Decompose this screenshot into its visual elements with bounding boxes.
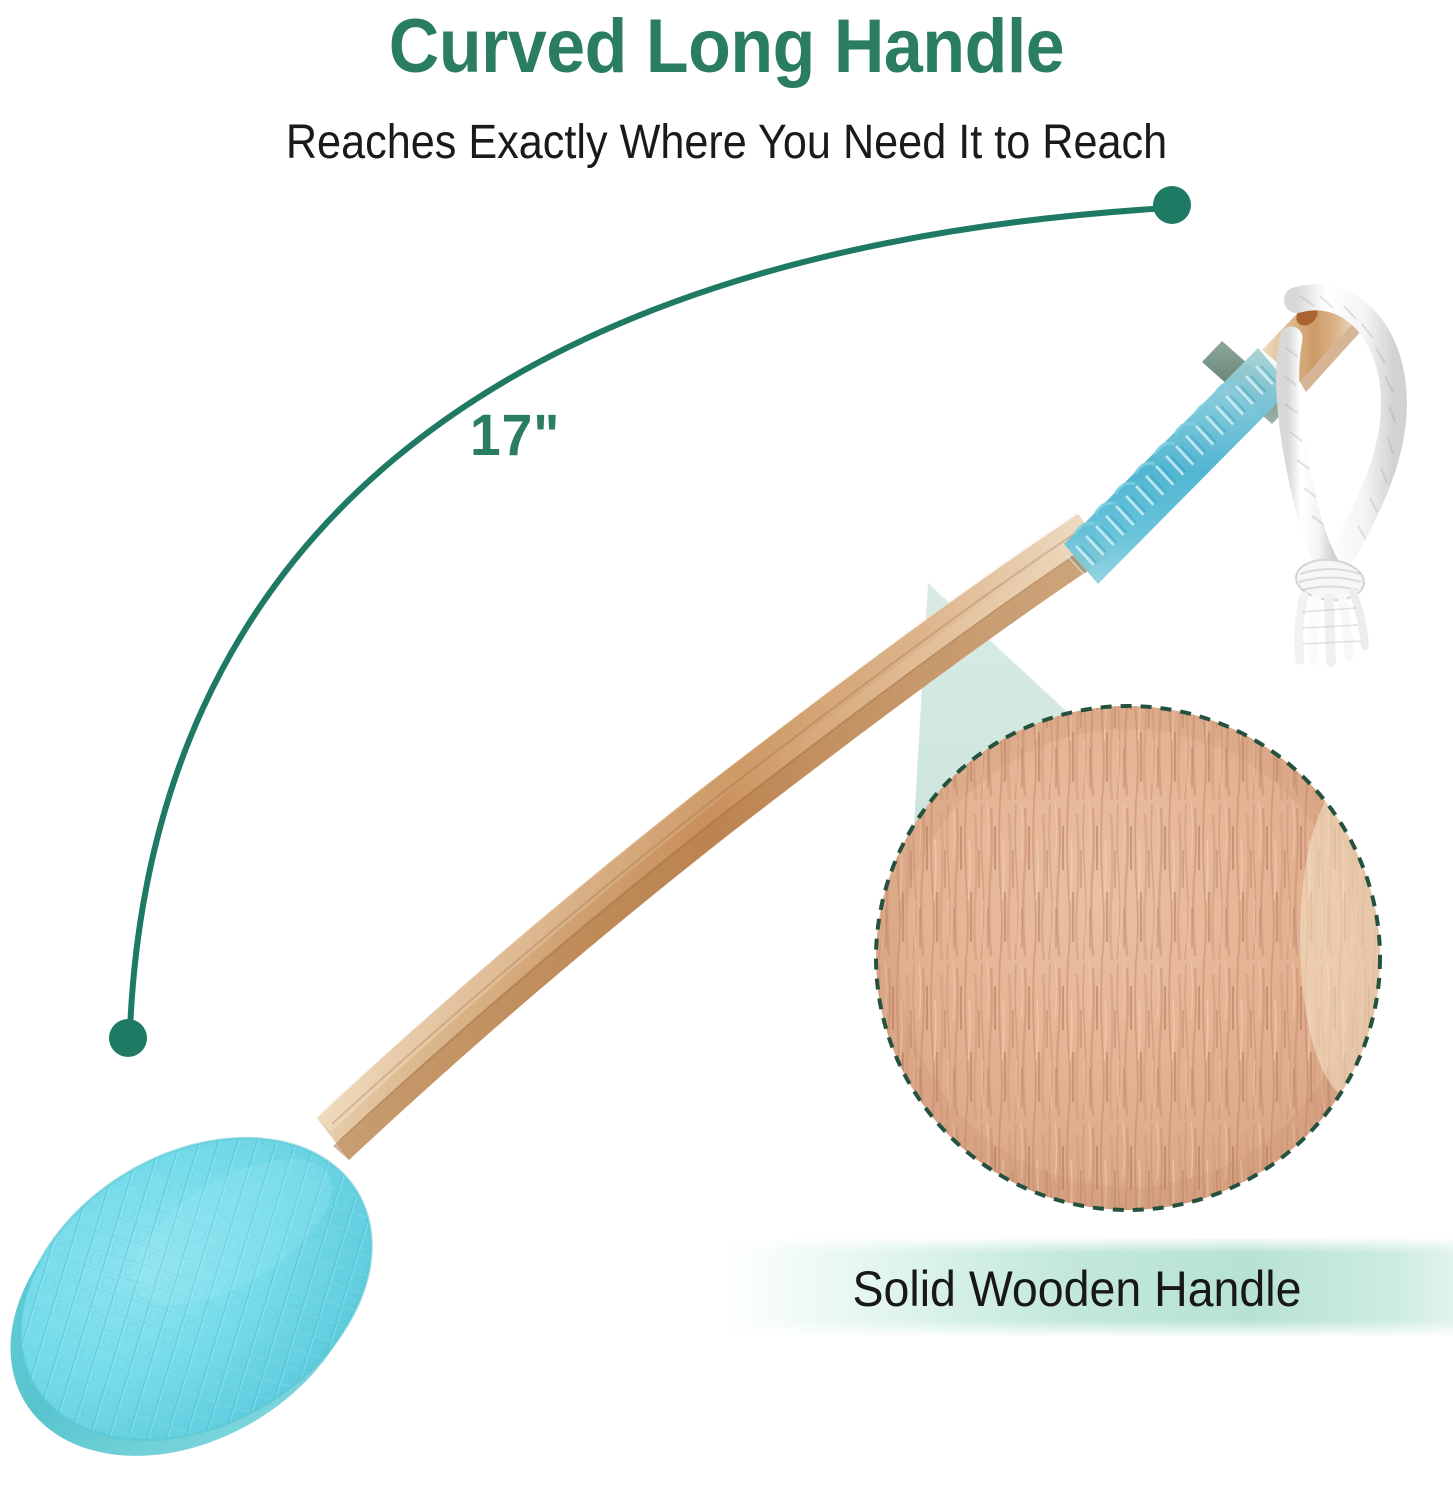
silicone-grip [1064,348,1292,584]
rope-tassel [1299,592,1365,662]
product-feature-image: Curved Long Handle Reaches Exactly Where… [0,0,1453,1500]
arc-endpoint-dot-bottom [109,1019,147,1057]
measurement-label: 17" [470,402,560,469]
callout-caption: Solid Wooden Handle [747,1249,1407,1329]
arc-endpoint-dot-top [1153,186,1191,224]
